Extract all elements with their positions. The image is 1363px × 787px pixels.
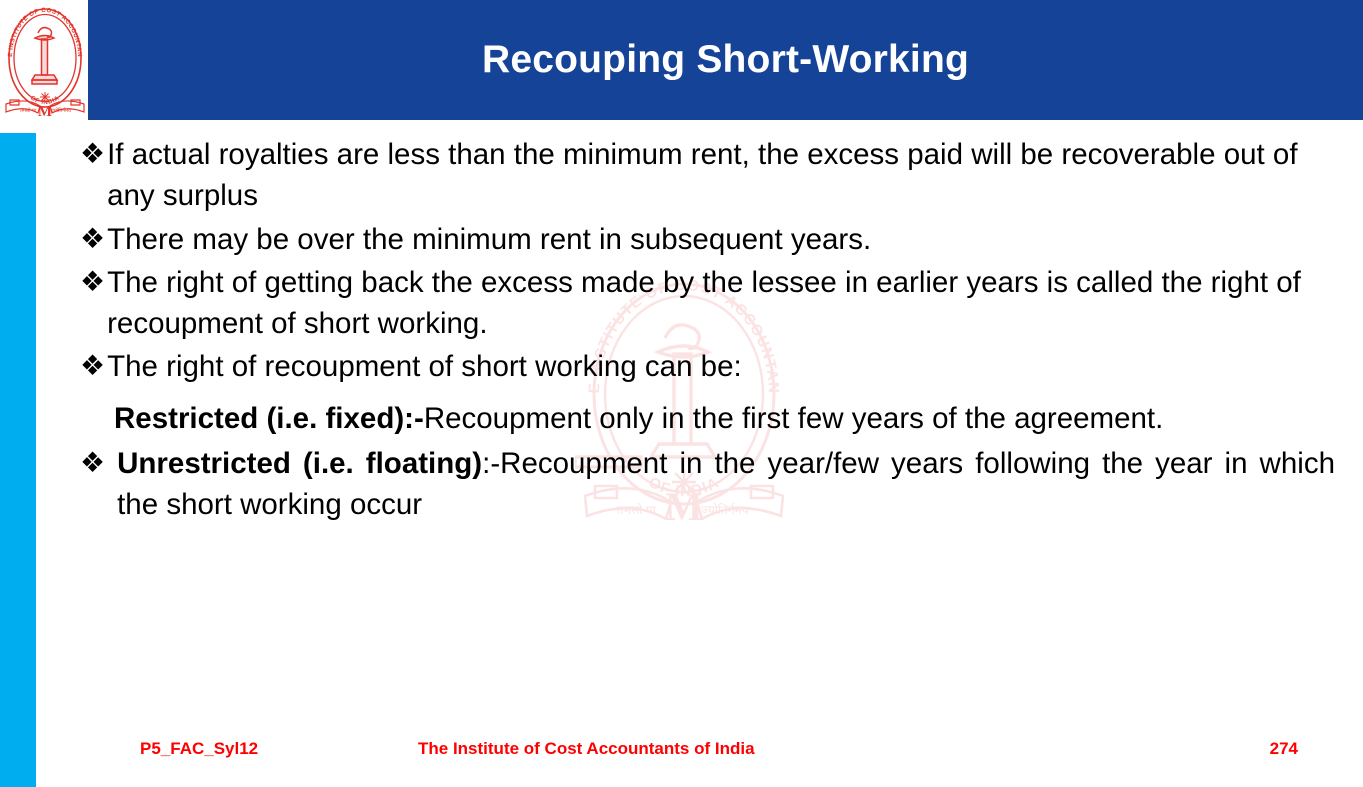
bullet-item: ❖ The right of recoupment of short worki… — [80, 346, 1335, 387]
bullet-diamond-icon: ❖ — [80, 262, 107, 301]
bullet-text: There may be over the minimum rent in su… — [107, 219, 1335, 260]
unrestricted-label: Unrestricted (i.e. floating) — [117, 447, 482, 480]
restricted-label: Restricted (i.e. fixed):- — [114, 402, 424, 435]
bullet-diamond-icon: ❖ — [80, 134, 107, 173]
unrestricted-text-wrap: Unrestricted (i.e. floating):-Recoupment… — [117, 443, 1335, 526]
page-title: Recouping Short-Working — [88, 0, 1363, 120]
svg-text:ज्योतिर्गमय: ज्योतिर्गमय — [51, 107, 71, 114]
slide: Recouping Short-Working THE INSTITUTE OF… — [0, 0, 1363, 787]
footer-subject-code: P5_FAC_Syl12 — [140, 739, 258, 759]
footer: P5_FAC_Syl12 The Institute of Cost Accou… — [0, 735, 1363, 769]
bullet-text: If actual royalties are less than the mi… — [107, 134, 1335, 217]
footer-page-number: 274 — [1270, 739, 1298, 759]
unrestricted-bullet-item: ❖ Unrestricted (i.e. floating):-Recoupme… — [80, 443, 1335, 526]
restricted-text: Recoupment only in the first few years o… — [424, 402, 1164, 435]
left-accent-strip — [0, 133, 36, 787]
bullet-item: ❖ There may be over the minimum rent in … — [80, 219, 1335, 260]
bullet-item: ❖ The right of getting back the excess m… — [80, 262, 1335, 345]
bullet-diamond-icon: ❖ — [80, 219, 107, 258]
bullet-diamond-icon: ❖ — [80, 346, 107, 385]
footer-institute-name: The Institute of Cost Accountants of Ind… — [418, 739, 755, 759]
bullet-item: ❖ If actual royalties are less than the … — [80, 134, 1335, 217]
bullet-text: The right of recoupment of short working… — [107, 346, 1335, 387]
institute-logo-icon: THE INSTITUTE OF COST ACCOUNTANTS OF IND… — [2, 2, 88, 120]
bullet-text: The right of getting back the excess mad… — [107, 262, 1335, 345]
restricted-paragraph: Restricted (i.e. fixed):-Recoupment only… — [114, 398, 1335, 439]
slide-body: ❖ If actual royalties are less than the … — [80, 134, 1335, 704]
svg-text:M: M — [38, 104, 52, 120]
svg-text:तमसो मा: तमसो मा — [20, 107, 37, 114]
bullet-diamond-icon: ❖ — [80, 443, 117, 482]
